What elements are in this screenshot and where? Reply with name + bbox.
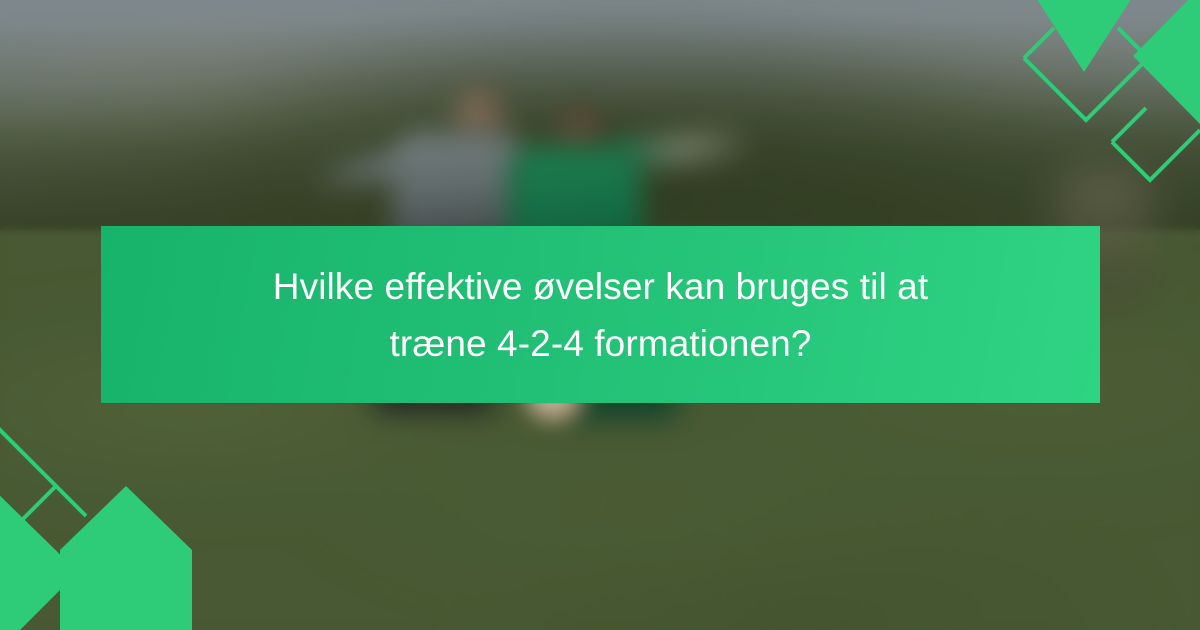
headline-text: Hvilke effektive øvelser kan bruges til …: [191, 258, 1011, 372]
social-share-card: Hvilke effektive øvelser kan bruges til …: [0, 0, 1200, 630]
headline-banner: Hvilke effektive øvelser kan bruges til …: [101, 226, 1100, 403]
